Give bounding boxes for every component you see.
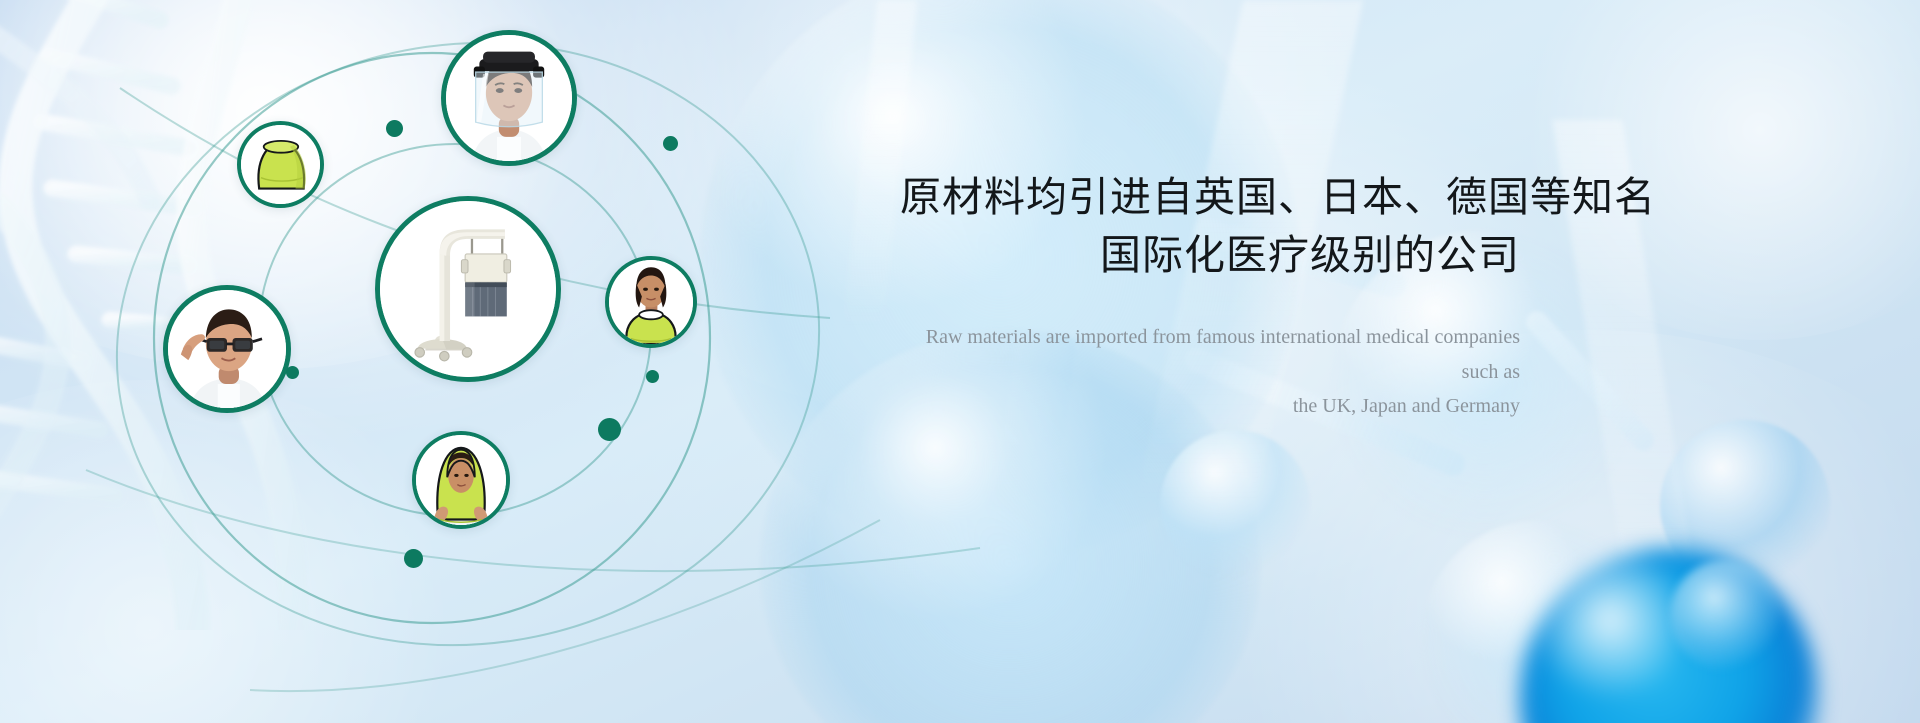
node-leaded-glasses[interactable] xyxy=(163,285,291,413)
page-title: 原材料均引进自英国、日本、德国等知名 国际化医疗级别的公司 xyxy=(900,168,1520,284)
mobile-barrier-photo xyxy=(380,201,556,377)
connector-dot-2 xyxy=(663,136,678,151)
background-haze xyxy=(1500,0,1920,340)
connector-dot-5 xyxy=(598,418,621,441)
node-mobile-barrier[interactable] xyxy=(375,196,561,382)
node-radiation-hood[interactable] xyxy=(412,431,510,529)
radiation-hood-photo xyxy=(416,435,506,525)
subtitle-line-2: the UK, Japan and Germany xyxy=(1293,395,1520,417)
subtitle-line-1: Raw materials are imported from famous i… xyxy=(926,326,1520,382)
blue-accent-sphere xyxy=(1520,548,1820,723)
hero-banner: 原材料均引进自英国、日本、德国等知名 国际化医疗级别的公司 Raw materi… xyxy=(0,0,1920,723)
headline-line-2: 国际化医疗级别的公司 xyxy=(900,226,1520,284)
connector-dot-1 xyxy=(386,120,403,137)
leaded-glasses-photo xyxy=(168,290,286,408)
thyroid-collar-photo xyxy=(241,125,320,204)
connector-dot-6 xyxy=(404,549,423,568)
connector-dot-3 xyxy=(286,366,299,379)
molecule-atom xyxy=(1160,430,1310,580)
molecule-bond xyxy=(1522,307,1659,455)
woman-collar-photo xyxy=(609,260,693,344)
blue-accent-sphere-small xyxy=(1670,560,1780,670)
banner-copy: 原材料均引进自英国、日本、德国等知名 国际化医疗级别的公司 Raw materi… xyxy=(900,168,1520,424)
connector-dot-4 xyxy=(646,370,659,383)
node-face-shield[interactable] xyxy=(441,30,577,166)
molecule-atom xyxy=(1660,420,1830,590)
node-thyroid-collar[interactable] xyxy=(237,121,324,208)
face-shield-photo xyxy=(446,35,572,161)
node-woman-collar[interactable] xyxy=(605,256,697,348)
molecule-atom xyxy=(1420,520,1660,723)
headline-line-1: 原材料均引进自英国、日本、德国等知名 xyxy=(900,168,1520,226)
banner-subtitle: Raw materials are imported from famous i… xyxy=(900,320,1520,423)
background-haze xyxy=(0,380,500,723)
